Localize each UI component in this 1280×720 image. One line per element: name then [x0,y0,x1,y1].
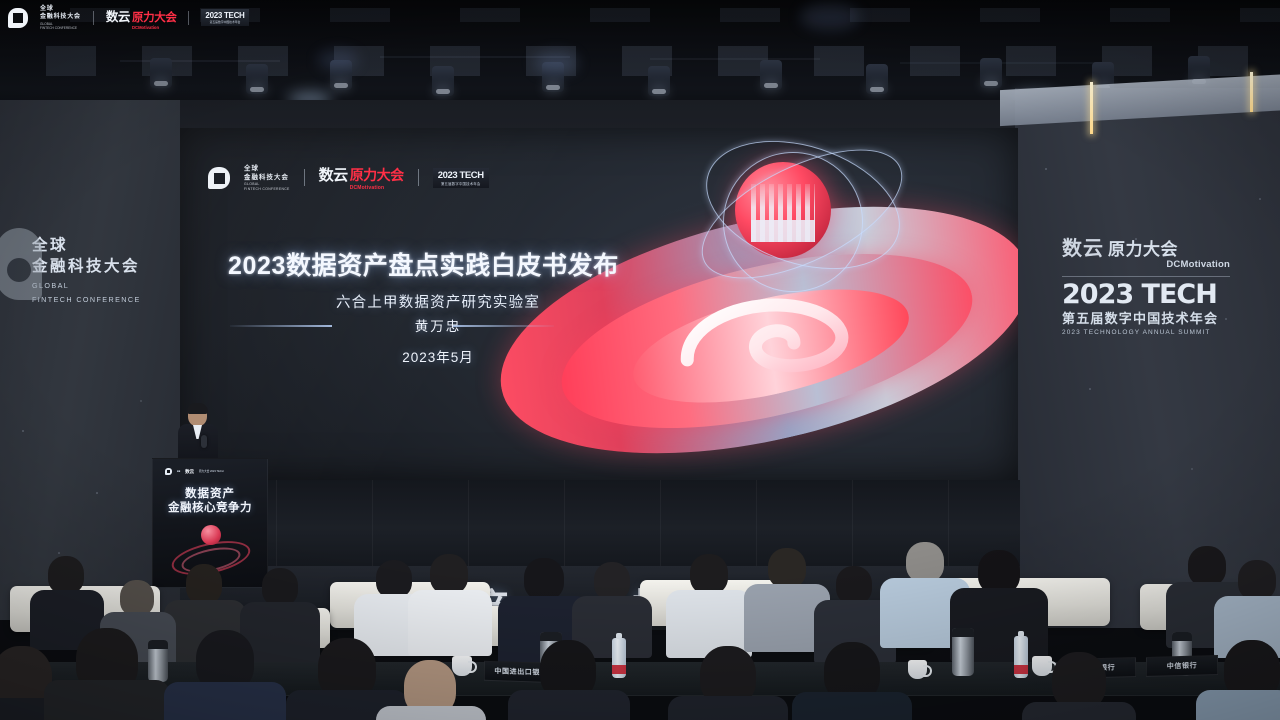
audience-area: 中国进出口银行 中信银行 中信银行 [0,520,1280,720]
watermark-cn-line1: 全球 [40,5,81,13]
dc-en: DCMotivation [350,185,404,191]
light-glow [534,52,578,74]
ceiling-bar [120,60,280,62]
watermark-dc-logo: 数云 原力大会 DCMotivation [106,6,177,30]
gfc-logo-icon [8,8,28,28]
left-wall-en-line2: FINTECH CONFERENCE [32,295,141,306]
stage-light [150,58,172,88]
water-bottle [612,638,626,678]
logo-divider [418,169,419,186]
watermark-divider [93,11,94,25]
left-wall-cn-line2: 金融科技大会 [32,257,141,278]
tech-badge-bottom: 第五届数字中国技术年会 [441,181,481,186]
speaker-person [176,404,220,464]
podium-brand: 数云 [185,469,194,475]
watermark-badge-bottom: 第五届数字中国技术年会 [210,20,241,24]
right-wall-brand-cn: 数云 [1062,232,1104,261]
water-bottle [1014,636,1028,678]
broadcast-watermark: 全球 金融科技大会 GLOBAL FINTECH CONFERENCE 数云 原… [8,5,249,31]
podium-logo-small: ■■ [177,470,180,473]
stage-light [432,66,454,96]
ceiling-bar [650,58,820,60]
slide-title: 2023数据资产盘点实践白皮书发布 [228,246,648,282]
gfc-logo-icon [0,228,42,300]
stage-light [648,66,670,96]
conference-stage-photo: 全球 金融科技大会 GLOBAL FINTECH CONFERENCE 数云 原… [0,0,1280,720]
watermark-dc-en: DCMotivation [132,25,176,30]
vertical-light-bar [1250,72,1253,112]
watermark-divider [188,11,189,25]
vertical-light-bar [1090,82,1093,134]
tea-mug [1032,656,1052,676]
main-led-screen: 全球 金融科技大会 GLOBAL FINTECH CONFERENCE 数云 原… [180,128,1018,480]
slide-presenter: 黄万忠 [268,315,608,335]
tea-mug [908,660,927,679]
gfc-wordmark: 全球 金融科技大会 GLOBAL FINTECH CONFERENCE [244,164,290,192]
logo-divider [304,169,305,186]
dc-red: 原力大会 [350,165,404,185]
podium-line2: 金融核心竞争力 [153,499,267,515]
thermos-flask [952,628,974,676]
thermos-flask [148,640,168,682]
right-wall-tech-en: 2023 TECHNOLOGY ANNUAL SUMMIT [1062,329,1230,336]
gfc-cn-line2: 金融科技大会 [244,173,290,182]
gfc-logo-icon [208,167,230,189]
slide-subtitle: 六合上甲数据资产研究实验室 [268,291,608,312]
stage-light [980,58,1002,88]
nameplate-text: 中信银行 [1167,661,1197,672]
right-wall-tech-year: 2023 TECH [1062,282,1230,308]
podium-logo: ■■ 数云 原力大会 2023 TECH [165,468,224,475]
tech-summit-badge: 2023 TECH 第五届数字中国技术年会 [433,168,489,188]
watermark-gfc-wordmark: 全球 金融科技大会 GLOBAL FINTECH CONFERENCE [40,5,81,31]
table-nameplate: 中信银行 [1146,655,1218,677]
watermark-dc-cn: 数云 [106,6,130,25]
stage-light [760,60,782,90]
watermark-badge-top: 2023 TECH [205,11,244,20]
dcmotivation-logo: 数云 原力大会 DCMotivation [319,164,404,191]
right-wall-brand-cn2: 原力大会 [1108,235,1178,260]
watermark-dc-red: 原力大会 [132,9,176,25]
tea-mug [452,656,472,676]
left-wall-branding: 全球 金融科技大会 GLOBAL FINTECH CONFERENCE [32,236,141,305]
gfc-cn-line1: 全球 [244,164,290,173]
right-wall-branding: 数云 原力大会 DCMotivation 2023 TECH 第五届数字中国技术… [1062,232,1230,336]
watermark-en-line2: FINTECH CONFERENCE [40,26,81,30]
stage-light [246,64,268,94]
slide-date: 2023年5月 [268,346,608,366]
dc-cn: 数云 [319,164,348,185]
watermark-cn-line2: 金融科技大会 [40,13,81,21]
tech-badge-top: 2023 TECH [438,170,484,181]
left-wall-en-line1: GLOBAL [32,281,141,292]
watermark-tech-badge: 2023 TECH 第五届数字中国技术年会 [201,9,248,26]
right-wall-tech-cn: 第五届数字中国技术年会 [1062,308,1230,327]
right-wall-divider [1062,276,1230,277]
light-glow [318,50,358,70]
gfc-logo-icon [165,468,172,475]
stage-light [866,64,888,94]
gfc-en-line2: FINTECH CONFERENCE [244,187,290,192]
screen-logo-bar: 全球 金融科技大会 GLOBAL FINTECH CONFERENCE 数云 原… [208,164,489,192]
microphone-icon [201,435,207,448]
light-glow [800,4,860,30]
left-wall-cn-line1: 全球 [32,236,141,257]
podium-brand-sub: 原力大会 2023 TECH [199,470,224,473]
speaker-hair [187,403,208,414]
